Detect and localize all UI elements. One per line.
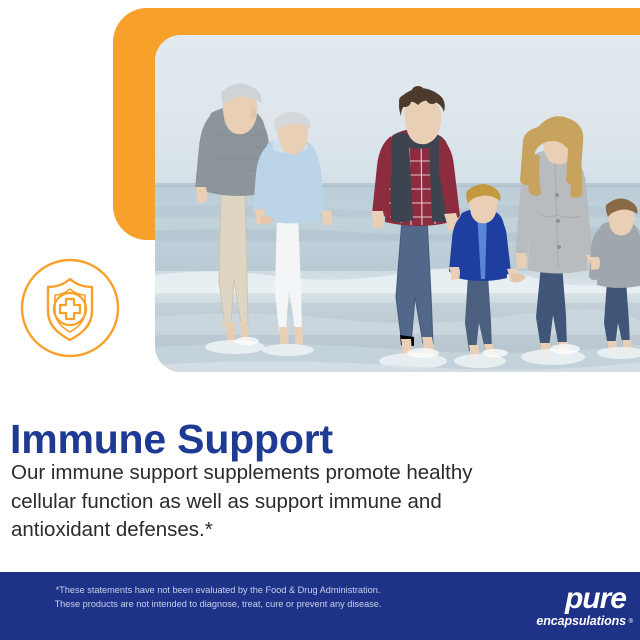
intro-copy-line: Our immune support supplements promote h… — [11, 459, 621, 488]
shield-cross-icon — [18, 256, 122, 360]
intro-copy: Our immune support supplements promote h… — [11, 459, 621, 545]
brand-logo-subtext: encapsulations ® — [498, 614, 626, 628]
fda-disclaimer: *These statements have not been evaluate… — [18, 583, 418, 611]
page-title: Immune Support — [10, 417, 333, 462]
hero-photo — [155, 35, 640, 372]
intro-copy-line: antioxidant defenses.* — [11, 516, 621, 545]
brand-logo[interactable]: pure encapsulations ® — [498, 584, 626, 628]
disclaimer-line: *These statements have not been evaluate… — [18, 583, 418, 597]
disclaimer-line: These products are not intended to diagn… — [18, 597, 418, 611]
brand-logo-subtext-label: encapsulations — [536, 614, 626, 628]
registered-trademark-icon: ® — [629, 615, 633, 629]
intro-copy-line: cellular function as well as support imm… — [11, 488, 621, 517]
footer-bar: *These statements have not been evaluate… — [0, 572, 640, 640]
brand-logo-wordmark: pure — [498, 584, 626, 614]
